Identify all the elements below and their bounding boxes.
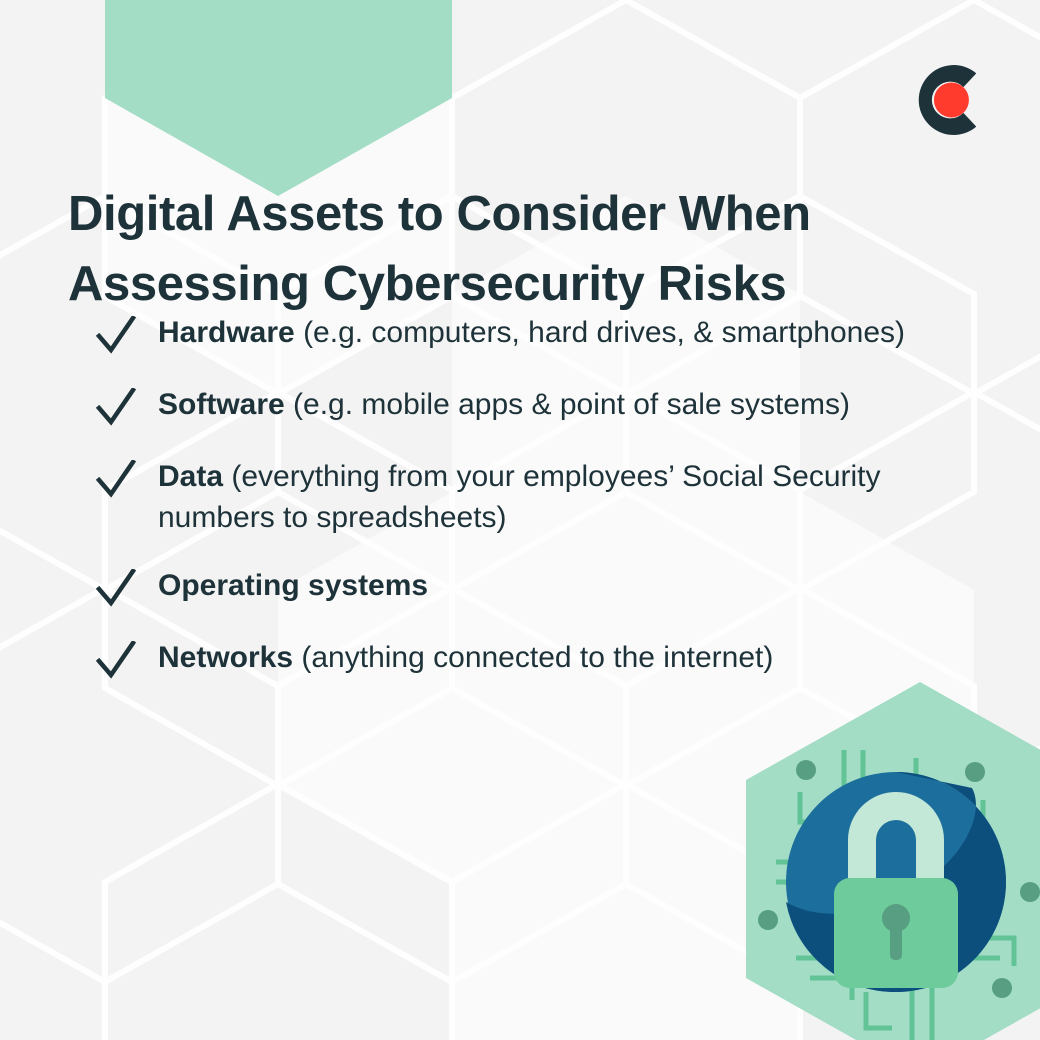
list-item: Data (everything from your employees’ So… xyxy=(96,456,976,539)
list-item-lead: Operating systems xyxy=(158,569,428,602)
list-item: Software (e.g. mobile apps & point of sa… xyxy=(96,384,976,430)
list-item: Hardware (e.g. computers, hard drives, &… xyxy=(96,312,976,358)
checkmark-icon xyxy=(96,641,136,683)
list-item-lead: Software xyxy=(158,388,285,421)
list-item-rest: (anything connected to the internet) xyxy=(293,641,773,674)
list-item-text: Hardware (e.g. computers, hard drives, &… xyxy=(158,312,905,353)
title-line-1: Digital Assets to Consider When xyxy=(68,179,908,250)
list-item-text: Data (everything from your employees’ So… xyxy=(158,456,958,539)
list-item-text: Networks (anything connected to the inte… xyxy=(158,637,773,678)
list-item-text: Operating systems xyxy=(158,565,428,606)
digital-assets-list: Hardware (e.g. computers, hard drives, &… xyxy=(96,312,976,709)
list-item-lead: Data xyxy=(158,460,223,493)
company-c-logo xyxy=(899,54,991,146)
checkmark-icon xyxy=(96,388,136,430)
list-item-text: Software (e.g. mobile apps & point of sa… xyxy=(158,384,850,425)
padlock-keyhole-slot xyxy=(890,922,902,960)
title-line-2: Assessing Cybersecurity Risks xyxy=(68,249,908,320)
checkmark-icon xyxy=(96,569,136,611)
list-item-rest: (e.g. computers, hard drives, & smartpho… xyxy=(295,316,905,349)
padlock-cybersecurity-illustration xyxy=(700,670,1040,1040)
list-item-lead: Networks xyxy=(158,641,293,674)
list-item-rest: (everything from your employees’ Social … xyxy=(158,460,881,534)
checkmark-icon xyxy=(96,316,136,358)
checkmark-icon xyxy=(96,460,136,502)
list-item-lead: Hardware xyxy=(158,316,295,349)
infographic-canvas: Digital Assets to Consider When Assessin… xyxy=(0,0,1040,1040)
top-green-hexagon xyxy=(105,0,452,196)
page-title: Digital Assets to Consider When Assessin… xyxy=(68,179,908,320)
list-item: Operating systems xyxy=(96,565,976,611)
list-item-rest: (e.g. mobile apps & point of sale system… xyxy=(285,388,850,421)
